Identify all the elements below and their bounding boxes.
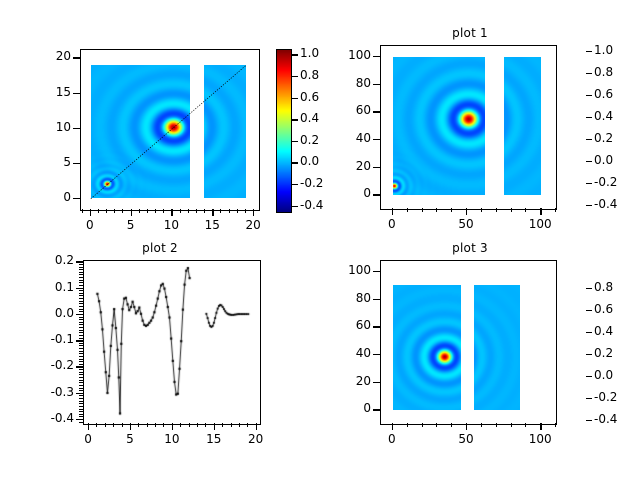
y-minor-tick bbox=[79, 411, 83, 412]
x-minor-tick bbox=[122, 423, 123, 427]
y-minor-tick bbox=[79, 303, 83, 304]
image-block-right bbox=[504, 57, 541, 195]
y-minor-tick bbox=[79, 298, 83, 299]
x-major-tick bbox=[172, 423, 173, 430]
x-major-tick bbox=[540, 208, 541, 215]
x-tick-label: 0 bbox=[372, 217, 412, 231]
y-minor-tick bbox=[79, 345, 83, 346]
y-minor-tick bbox=[79, 293, 83, 294]
y-tick-label: 60 bbox=[319, 318, 371, 332]
y-major-tick bbox=[373, 271, 380, 272]
colorbar-tick bbox=[586, 205, 592, 206]
y-tick-label: 0.2 bbox=[22, 253, 74, 267]
panel-bottom-left-axes bbox=[83, 260, 261, 425]
x-tick-label: 15 bbox=[192, 218, 232, 232]
y-minor-tick bbox=[79, 398, 83, 399]
x-minor-tick bbox=[105, 423, 106, 427]
y-minor-tick bbox=[79, 264, 83, 265]
colorbar-tick-label: 0.2 bbox=[300, 133, 319, 147]
y-minor-tick bbox=[79, 332, 83, 333]
x-major-tick bbox=[253, 209, 254, 216]
x-minor-tick bbox=[436, 423, 437, 427]
x-major-tick bbox=[392, 423, 393, 430]
colorbar-tick-label: 0.4 bbox=[300, 111, 319, 125]
x-tick-label: 10 bbox=[151, 218, 191, 232]
x-major-tick bbox=[90, 209, 91, 216]
y-minor-tick bbox=[79, 306, 83, 307]
colorbar-tick-label: 0.4 bbox=[594, 324, 613, 338]
x-tick-label: 50 bbox=[446, 432, 486, 446]
colorbar-tick bbox=[292, 162, 298, 163]
colorbar-tick bbox=[586, 95, 592, 96]
y-major-tick bbox=[73, 57, 80, 58]
x-major-tick bbox=[256, 423, 257, 430]
y-minor-tick bbox=[79, 361, 83, 362]
x-minor-tick bbox=[239, 423, 240, 427]
y-minor-tick bbox=[79, 309, 83, 310]
x-minor-tick bbox=[189, 423, 190, 427]
panel-top-left: 05101520051015201.00.80.60.40.20.0-0.2-0… bbox=[0, 0, 320, 240]
colorbar-tick bbox=[586, 183, 592, 184]
x-minor-tick bbox=[98, 209, 99, 213]
colorbar-tick-label: 0.2 bbox=[594, 346, 613, 360]
x-tick-label: 100 bbox=[520, 217, 560, 231]
y-minor-tick bbox=[79, 319, 83, 320]
colorbar-tick bbox=[586, 310, 592, 311]
colorbar-tick bbox=[586, 51, 592, 52]
y-minor-tick bbox=[79, 269, 83, 270]
colorbar-tick-label: 0.4 bbox=[594, 109, 613, 123]
colorbar-tick-label: -0.4 bbox=[594, 197, 617, 211]
y-major-tick bbox=[76, 288, 83, 289]
x-major-tick bbox=[466, 208, 467, 215]
y-minor-tick bbox=[79, 327, 83, 328]
y-minor-tick bbox=[79, 406, 83, 407]
y-major-tick bbox=[373, 84, 380, 85]
y-major-tick bbox=[76, 340, 83, 341]
y-minor-tick bbox=[79, 372, 83, 373]
x-tick-label: 5 bbox=[110, 432, 150, 446]
x-minor-tick bbox=[163, 423, 164, 427]
x-minor-tick bbox=[481, 423, 482, 427]
x-tick-label: 20 bbox=[236, 432, 276, 446]
y-major-tick bbox=[73, 128, 80, 129]
x-tick-label: 5 bbox=[111, 218, 151, 232]
colorbar-tick-label: 0.8 bbox=[594, 65, 613, 79]
x-minor-tick bbox=[555, 208, 556, 212]
colorbar-tick bbox=[292, 54, 298, 55]
y-minor-tick bbox=[79, 416, 83, 417]
colorbar-tick bbox=[586, 376, 592, 377]
x-minor-tick bbox=[188, 209, 189, 213]
y-minor-tick bbox=[79, 338, 83, 339]
x-major-tick bbox=[171, 209, 172, 216]
x-major-tick bbox=[212, 209, 213, 216]
colorbar-tick bbox=[586, 420, 592, 421]
x-minor-tick bbox=[451, 423, 452, 427]
colorbar-tick bbox=[292, 76, 298, 77]
x-minor-tick bbox=[155, 209, 156, 213]
x-major-tick bbox=[130, 423, 131, 430]
y-tick-label: 0 bbox=[319, 401, 371, 415]
x-minor-tick bbox=[555, 423, 556, 427]
colorbar-tick-label: -0.2 bbox=[594, 390, 617, 404]
colorbar-gradient bbox=[277, 50, 291, 212]
x-minor-tick bbox=[407, 423, 408, 427]
y-major-tick bbox=[76, 366, 83, 367]
x-minor-tick bbox=[481, 208, 482, 212]
y-minor-tick bbox=[79, 311, 83, 312]
panel-top-right: plot 1 0501000204060801001.00.80.60.40.2… bbox=[320, 0, 640, 240]
figure-canvas: 05101520051015201.00.80.60.40.20.0-0.2-0… bbox=[0, 0, 640, 480]
x-tick-label: 15 bbox=[194, 432, 234, 446]
x-tick-label: 0 bbox=[68, 432, 108, 446]
y-tick-label: 0.0 bbox=[22, 306, 74, 320]
y-minor-tick bbox=[79, 414, 83, 415]
y-minor-tick bbox=[79, 388, 83, 389]
x-minor-tick bbox=[422, 208, 423, 212]
y-minor-tick bbox=[79, 272, 83, 273]
colorbar-tick-label: 0.6 bbox=[594, 87, 613, 101]
y-tick-label: 80 bbox=[319, 291, 371, 305]
x-minor-tick bbox=[511, 423, 512, 427]
x-tick-label: 20 bbox=[233, 218, 273, 232]
y-tick-label: 15 bbox=[19, 85, 71, 99]
x-minor-tick bbox=[496, 423, 497, 427]
y-major-tick bbox=[76, 261, 83, 262]
x-minor-tick bbox=[82, 209, 83, 213]
y-major-tick bbox=[73, 163, 80, 164]
x-minor-tick bbox=[138, 423, 139, 427]
colorbar-tick bbox=[586, 161, 592, 162]
x-minor-tick bbox=[155, 423, 156, 427]
y-tick-label: 20 bbox=[319, 159, 371, 173]
y-major-tick bbox=[373, 409, 380, 410]
x-minor-tick bbox=[237, 209, 238, 213]
y-tick-label: 20 bbox=[319, 374, 371, 388]
x-minor-tick bbox=[197, 423, 198, 427]
y-tick-label: -0.1 bbox=[22, 332, 74, 346]
y-major-tick bbox=[76, 393, 83, 394]
colorbar-tick bbox=[292, 141, 298, 142]
x-tick-label: 10 bbox=[152, 432, 192, 446]
y-minor-tick bbox=[79, 290, 83, 291]
y-minor-tick bbox=[79, 280, 83, 281]
x-minor-tick bbox=[511, 208, 512, 212]
y-tick-label: 5 bbox=[19, 155, 71, 169]
x-minor-tick bbox=[436, 208, 437, 212]
y-major-tick bbox=[373, 167, 380, 168]
colorbar-tick bbox=[586, 117, 592, 118]
y-minor-tick bbox=[79, 382, 83, 383]
colorbar-tick bbox=[586, 288, 592, 289]
colorbar-tick-label: 1.0 bbox=[594, 43, 613, 57]
y-tick-label: 100 bbox=[319, 263, 371, 277]
x-tick-label: 50 bbox=[446, 217, 486, 231]
x-minor-tick bbox=[180, 209, 181, 213]
panel-bottom-right-axes bbox=[380, 260, 557, 425]
image-block-right bbox=[474, 285, 520, 410]
x-major-tick bbox=[392, 208, 393, 215]
colorbar-tick bbox=[292, 119, 298, 120]
colorbar-tick-label: 0.6 bbox=[300, 90, 319, 104]
image-block-left bbox=[393, 285, 461, 410]
x-minor-tick bbox=[180, 423, 181, 427]
y-major-tick bbox=[76, 419, 83, 420]
panel-top-right-axes bbox=[380, 45, 557, 210]
y-minor-tick bbox=[79, 353, 83, 354]
x-minor-tick bbox=[114, 209, 115, 213]
x-minor-tick bbox=[106, 209, 107, 213]
y-tick-label: 0 bbox=[319, 186, 371, 200]
y-minor-tick bbox=[79, 282, 83, 283]
y-major-tick bbox=[73, 198, 80, 199]
y-minor-tick bbox=[79, 267, 83, 268]
y-tick-label: -0.4 bbox=[22, 411, 74, 425]
y-tick-label: 0.1 bbox=[22, 280, 74, 294]
diagonal-line bbox=[91, 65, 246, 198]
y-tick-label: 0 bbox=[19, 190, 71, 204]
y-tick-label: 20 bbox=[19, 49, 71, 63]
y-minor-tick bbox=[79, 359, 83, 360]
panel-top-left-colorbar bbox=[276, 49, 292, 213]
y-minor-tick bbox=[79, 330, 83, 331]
panel-bottom-left: plot 2 051015200.20.10.0-0.1-0.2-0.3-0.4 bbox=[0, 240, 320, 480]
y-minor-tick bbox=[79, 348, 83, 349]
y-major-tick bbox=[73, 93, 80, 94]
x-major-tick bbox=[540, 423, 541, 430]
panel-top-right-title: plot 1 bbox=[380, 26, 560, 40]
y-minor-tick bbox=[79, 380, 83, 381]
colorbar-tick-label: 0.0 bbox=[300, 154, 319, 168]
panel-top-left-axes bbox=[80, 49, 260, 211]
colorbar-tick bbox=[292, 206, 298, 207]
x-minor-tick bbox=[525, 423, 526, 427]
y-tick-label: -0.3 bbox=[22, 385, 74, 399]
y-tick-label: 100 bbox=[319, 48, 371, 62]
x-minor-tick bbox=[496, 208, 497, 212]
y-tick-label: 40 bbox=[319, 346, 371, 360]
y-minor-tick bbox=[79, 409, 83, 410]
x-major-tick bbox=[88, 423, 89, 430]
y-minor-tick bbox=[79, 390, 83, 391]
y-tick-label: 40 bbox=[319, 131, 371, 145]
colorbar-tick bbox=[292, 184, 298, 185]
y-major-tick bbox=[373, 139, 380, 140]
colorbar-tick bbox=[586, 398, 592, 399]
x-minor-tick bbox=[231, 423, 232, 427]
y-minor-tick bbox=[79, 385, 83, 386]
y-minor-tick bbox=[79, 401, 83, 402]
colorbar-tick-label: 1.0 bbox=[300, 46, 319, 60]
x-minor-tick bbox=[222, 423, 223, 427]
colorbar-tick-label: 0.0 bbox=[594, 368, 613, 382]
x-minor-tick bbox=[525, 208, 526, 212]
x-major-tick bbox=[466, 423, 467, 430]
y-minor-tick bbox=[79, 422, 83, 423]
y-tick-label: 10 bbox=[19, 120, 71, 134]
y-minor-tick bbox=[79, 377, 83, 378]
y-minor-tick bbox=[79, 343, 83, 344]
colorbar-tick bbox=[586, 139, 592, 140]
x-major-tick bbox=[214, 423, 215, 430]
colorbar-tick-label: 0.2 bbox=[594, 131, 613, 145]
x-tick-label: 0 bbox=[70, 218, 110, 232]
y-tick-label: -0.2 bbox=[22, 358, 74, 372]
x-minor-tick bbox=[147, 209, 148, 213]
y-minor-tick bbox=[79, 356, 83, 357]
x-minor-tick bbox=[122, 209, 123, 213]
y-major-tick bbox=[76, 314, 83, 315]
y-tick-label: 80 bbox=[319, 76, 371, 90]
y-major-tick bbox=[373, 326, 380, 327]
y-minor-tick bbox=[79, 285, 83, 286]
colorbar-tick-label: 0.0 bbox=[594, 153, 613, 167]
x-minor-tick bbox=[247, 423, 248, 427]
x-minor-tick bbox=[407, 208, 408, 212]
x-minor-tick bbox=[205, 423, 206, 427]
line-series-canvas bbox=[84, 261, 260, 424]
x-minor-tick bbox=[451, 208, 452, 212]
panel-bottom-left-title: plot 2 bbox=[60, 241, 260, 255]
y-minor-tick bbox=[79, 322, 83, 323]
colorbar-tick-label: 0.8 bbox=[300, 68, 319, 82]
y-minor-tick bbox=[79, 317, 83, 318]
colorbar-tick bbox=[292, 98, 298, 99]
y-minor-tick bbox=[79, 403, 83, 404]
y-major-tick bbox=[373, 382, 380, 383]
x-tick-label: 100 bbox=[520, 432, 560, 446]
x-minor-tick bbox=[220, 209, 221, 213]
colorbar-tick bbox=[586, 332, 592, 333]
x-minor-tick bbox=[422, 423, 423, 427]
panel-bottom-right-title: plot 3 bbox=[380, 241, 560, 255]
y-minor-tick bbox=[79, 395, 83, 396]
y-major-tick bbox=[373, 354, 380, 355]
y-minor-tick bbox=[79, 335, 83, 336]
colorbar-tick-label: 0.6 bbox=[594, 302, 613, 316]
colorbar-tick bbox=[586, 354, 592, 355]
x-minor-tick bbox=[163, 209, 164, 213]
x-minor-tick bbox=[113, 423, 114, 427]
annotation-layer bbox=[81, 50, 259, 210]
x-minor-tick bbox=[196, 209, 197, 213]
colorbar-tick-label: -0.4 bbox=[594, 412, 617, 426]
x-minor-tick bbox=[139, 209, 140, 213]
y-major-tick bbox=[373, 299, 380, 300]
y-major-tick bbox=[373, 56, 380, 57]
y-minor-tick bbox=[79, 301, 83, 302]
y-minor-tick bbox=[79, 351, 83, 352]
x-minor-tick bbox=[96, 423, 97, 427]
y-tick-label: 60 bbox=[319, 103, 371, 117]
y-major-tick bbox=[373, 194, 380, 195]
y-minor-tick bbox=[79, 324, 83, 325]
y-minor-tick bbox=[79, 374, 83, 375]
y-major-tick bbox=[373, 111, 380, 112]
x-minor-tick bbox=[204, 209, 205, 213]
panel-bottom-right: plot 3 0501000204060801000.80.60.40.20.0… bbox=[320, 240, 640, 480]
colorbar-tick bbox=[586, 73, 592, 74]
y-minor-tick bbox=[79, 274, 83, 275]
x-tick-label: 0 bbox=[372, 432, 412, 446]
colorbar-tick-label: -0.2 bbox=[594, 175, 617, 189]
y-minor-tick bbox=[79, 369, 83, 370]
x-major-tick bbox=[131, 209, 132, 216]
x-minor-tick bbox=[245, 209, 246, 213]
x-minor-tick bbox=[147, 423, 148, 427]
y-minor-tick bbox=[79, 277, 83, 278]
colorbar-tick-label: 0.8 bbox=[594, 280, 613, 294]
y-minor-tick bbox=[79, 295, 83, 296]
x-minor-tick bbox=[229, 209, 230, 213]
image-block-left bbox=[393, 57, 485, 195]
y-minor-tick bbox=[79, 364, 83, 365]
